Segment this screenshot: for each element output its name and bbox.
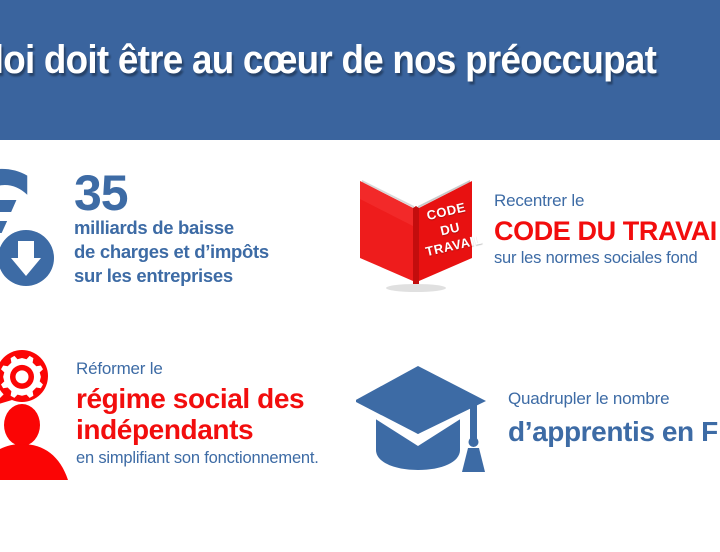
red-open-book-icon: CODE DU TRAVAIL	[352, 166, 494, 294]
block-code-du-travail: CODE DU TRAVAIL Recentrer le CODE DU TRA…	[352, 166, 717, 294]
graduation-cap-icon	[356, 362, 508, 474]
regime-social-emphasis-line-2: indépendants	[76, 414, 319, 445]
statistic-line-3: sur les entreprises	[74, 264, 269, 288]
gear-bubble-person-icon	[0, 348, 76, 480]
block-regime-social: Réformer le régime social des indépendan…	[0, 348, 319, 480]
code-travail-lead: Recentrer le	[494, 191, 717, 211]
block-baisse-charges: € 35 milliards de baisse de charges et d…	[0, 168, 269, 290]
down-arrow-icon	[0, 230, 54, 286]
infographic-blocks: € 35 milliards de baisse de charges et d…	[0, 140, 720, 552]
euro-down-arrow-icon: €	[0, 168, 74, 290]
gear-person-svg	[0, 348, 70, 480]
grad-cap-svg	[356, 362, 490, 474]
code-travail-footer: sur les normes sociales fond	[494, 249, 717, 269]
page-title: mploi doit être au cœur de nos préoccupa…	[0, 38, 656, 83]
regime-social-emphasis-line-1: régime social des	[76, 383, 319, 414]
block-apprentis-text: Quadrupler le nombre d’apprentis en F	[508, 389, 718, 447]
block-apprentis: Quadrupler le nombre d’apprentis en F	[356, 362, 718, 474]
block-baisse-charges-text: 35 milliards de baisse de charges et d’i…	[74, 170, 269, 287]
apprentis-lead: Quadrupler le nombre	[508, 389, 718, 409]
regime-social-lead: Réformer le	[76, 359, 319, 379]
regime-social-footer: en simplifiant son fonctionnement.	[76, 449, 319, 469]
block-regime-social-text: Réformer le régime social des indépendan…	[76, 359, 319, 468]
statistic-line-2: de charges et d’impôts	[74, 240, 269, 264]
apprentis-emphasis: d’apprentis en F	[508, 416, 718, 447]
block-code-du-travail-text: Recentrer le CODE DU TRAVAI sur les norm…	[494, 191, 717, 270]
statistic-line-1: milliards de baisse	[74, 216, 269, 240]
header-band: mploi doit être au cœur de nos préoccupa…	[0, 0, 720, 140]
code-travail-emphasis: CODE DU TRAVAI	[494, 216, 717, 246]
statistic-number: 35	[74, 170, 269, 216]
